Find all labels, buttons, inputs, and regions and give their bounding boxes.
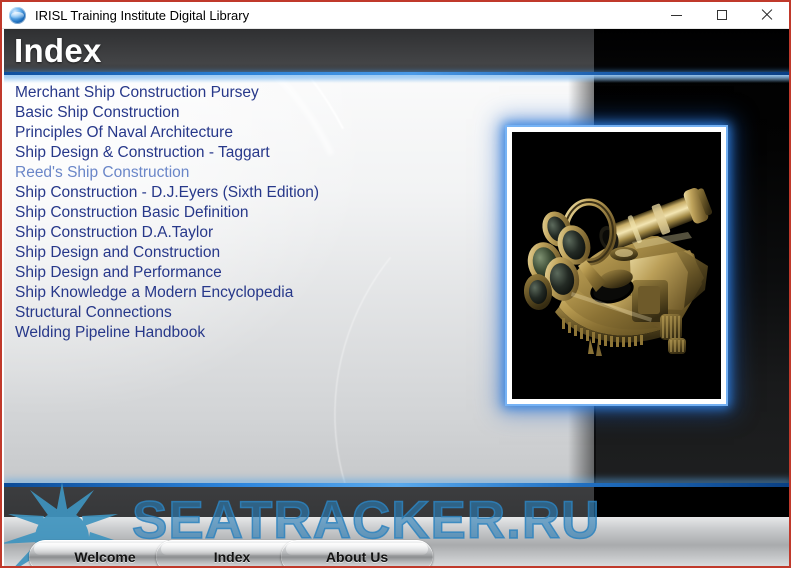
app-icon: [9, 7, 26, 24]
minimize-icon: [671, 15, 682, 16]
page-title: Index: [14, 32, 102, 70]
index-link[interactable]: Ship Design and Construction: [15, 243, 485, 263]
window-controls: [654, 2, 789, 28]
index-link[interactable]: Ship Construction D.A.Taylor: [15, 223, 485, 243]
minimize-button[interactable]: [654, 2, 699, 28]
index-link[interactable]: Ship Construction Basic Definition: [15, 203, 485, 223]
navigation-buttons: Welcome Index About Us: [4, 540, 791, 568]
index-link[interactable]: Ship Knowledge a Modern Encyclopedia: [15, 283, 485, 303]
index-link[interactable]: Basic Ship Construction: [15, 103, 485, 123]
illustration-frame: [507, 127, 726, 404]
nav-button-index-label: Index: [214, 549, 251, 565]
index-link[interactable]: Structural Connections: [15, 303, 485, 323]
application-window: IRISL Training Institute Digital Library…: [0, 0, 791, 568]
page-stage: Index Merchant Ship Construction Pursey …: [4, 28, 791, 568]
nav-button-about-us[interactable]: About Us: [281, 540, 433, 568]
maximize-icon: [717, 10, 727, 20]
index-link[interactable]: Ship Construction - D.J.Eyers (Sixth Edi…: [15, 183, 485, 203]
illustration-image: [512, 132, 721, 399]
index-link[interactable]: Ship Design and Performance: [15, 263, 485, 283]
index-link-list: Merchant Ship Construction Pursey Basic …: [15, 83, 485, 343]
index-link-highlighted[interactable]: Reed's Ship Construction: [15, 163, 485, 183]
maximize-button[interactable]: [699, 2, 744, 28]
index-link[interactable]: Ship Design & Construction - Taggart: [15, 143, 485, 163]
index-link[interactable]: Principles Of Naval Architecture: [15, 123, 485, 143]
header-dark-section: [594, 28, 791, 72]
nav-button-welcome-label: Welcome: [74, 549, 135, 565]
header-glow: [4, 75, 791, 83]
close-icon: [761, 9, 773, 21]
index-link[interactable]: Welding Pipeline Handbook: [15, 323, 485, 343]
sextant-illustration: [512, 132, 721, 399]
title-bar: IRISL Training Institute Digital Library: [2, 2, 789, 29]
index-link[interactable]: Merchant Ship Construction Pursey: [15, 83, 485, 103]
page-header: [4, 28, 791, 72]
nav-button-about-us-label: About Us: [326, 549, 388, 565]
window-title: IRISL Training Institute Digital Library: [35, 8, 249, 23]
close-button[interactable]: [744, 2, 789, 28]
